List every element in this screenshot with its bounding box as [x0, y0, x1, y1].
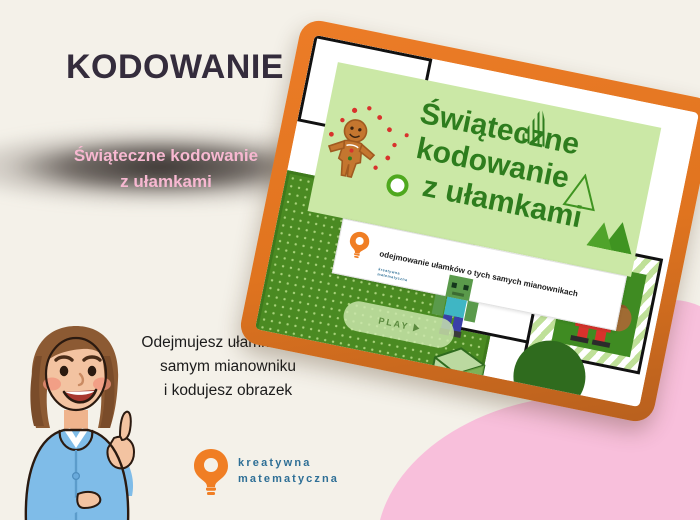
brand-logo: kreatywna matematyczna	[190, 446, 339, 498]
page-subtitle: Świąteczne kodowanie z ułamkami	[26, 143, 306, 194]
presentation-slide: Świąteczne kodowanie z ułamkami	[255, 35, 699, 407]
cartoon-teacher-woman	[2, 318, 162, 520]
subtitle-line-2: z ułamkami	[26, 169, 306, 195]
tablet-screen[interactable]: Świąteczne kodowanie z ułamkami	[255, 35, 699, 407]
page-title: KODOWANIE	[66, 48, 284, 87]
play-button-label: PLAY	[378, 315, 411, 331]
brand-word-1: kreatywna	[238, 456, 339, 472]
subtitle-line-1: Świąteczne kodowanie	[26, 143, 306, 169]
lightbulb-icon-small	[344, 228, 373, 262]
play-triangle-icon	[412, 323, 419, 332]
card-brand-wordmark: kreatywna matematyczna	[377, 267, 409, 283]
brand-wordmark: kreatywna matematyczna	[238, 456, 339, 488]
brand-word-2: matematyczna	[238, 472, 339, 488]
lightbulb-icon	[190, 446, 232, 498]
green-cube-icon	[421, 337, 494, 408]
gingerbread-man-icon	[317, 113, 386, 185]
christmas-tree-outline-icon	[562, 170, 602, 212]
poster-canvas: KODOWANIE Świąteczne kodowanie z ułamkam…	[0, 0, 700, 520]
